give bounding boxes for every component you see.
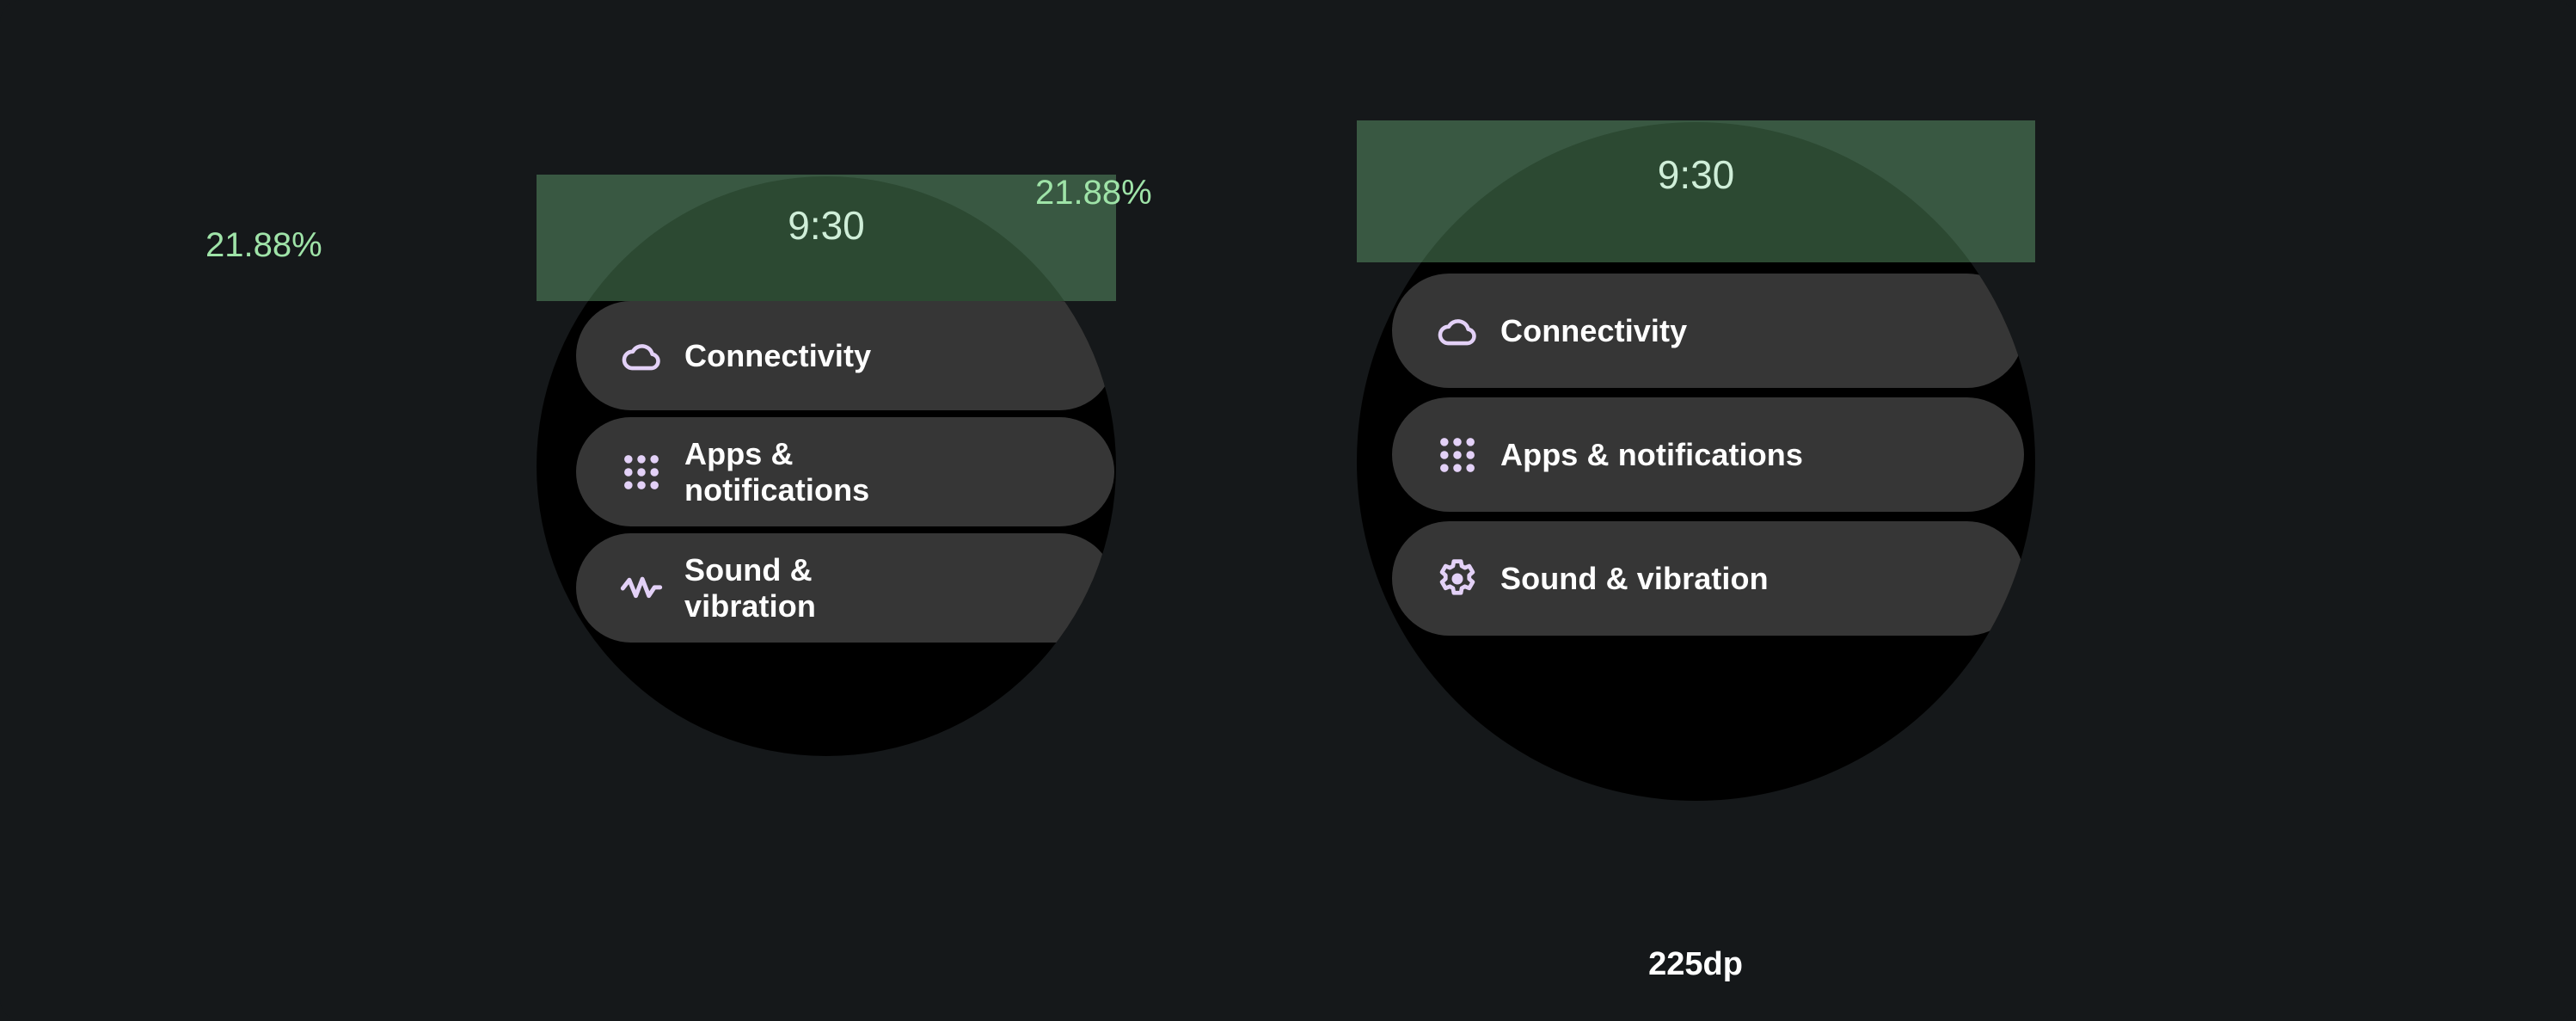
watch-face-225dp[interactable]: Connectivity Apps & notifications (1357, 122, 2035, 801)
apps-grid-icon (619, 450, 664, 495)
list-item-sound-vibration[interactable]: Sound & vibration (576, 533, 1114, 643)
watch-face-192dp[interactable]: Connectivity Apps & notifications (537, 176, 1116, 756)
measurement-percent-label-192dp: 21.88% (205, 226, 322, 265)
settings-list-225dp[interactable]: Connectivity Apps & notifications (1357, 122, 2035, 801)
list-item-label: Connectivity (684, 338, 871, 374)
list-item-label: Sound & vibration (1500, 561, 1769, 597)
settings-list-192dp[interactable]: Connectivity Apps & notifications (537, 176, 1116, 756)
cloud-icon (619, 334, 664, 378)
list-item-label: Connectivity (1500, 313, 1687, 349)
list-item-apps-notifications[interactable]: Apps & notifications (1392, 397, 2024, 512)
apps-grid-icon (1435, 433, 1480, 477)
list-item-connectivity[interactable]: Connectivity (1392, 274, 2024, 388)
comparison-stage: Connectivity Apps & notifications (0, 0, 2576, 1021)
watch-figure-225dp: Connectivity Apps & notifications (1357, 122, 2035, 801)
list-item-connectivity[interactable]: Connectivity (576, 301, 1114, 410)
list-item-apps-notifications[interactable]: Apps & notifications (576, 417, 1114, 526)
cloud-icon (1435, 309, 1480, 354)
sound-waveform-icon (619, 566, 664, 611)
list-item-sound-vibration[interactable]: Sound & vibration (1392, 521, 2024, 636)
gear-icon (1435, 557, 1480, 601)
watch-figure-192dp: Connectivity Apps & notifications (537, 176, 1116, 756)
measurement-percent-label-225dp: 21.88% (1035, 174, 1152, 212)
page-frame: Connectivity Apps & notifications (0, 0, 2576, 1021)
list-item-label: Sound & vibration (684, 552, 942, 624)
list-item-label: Apps & notifications (684, 436, 942, 508)
list-item-label: Apps & notifications (1500, 437, 1803, 473)
size-caption-225dp: 225dp (1610, 946, 1782, 983)
